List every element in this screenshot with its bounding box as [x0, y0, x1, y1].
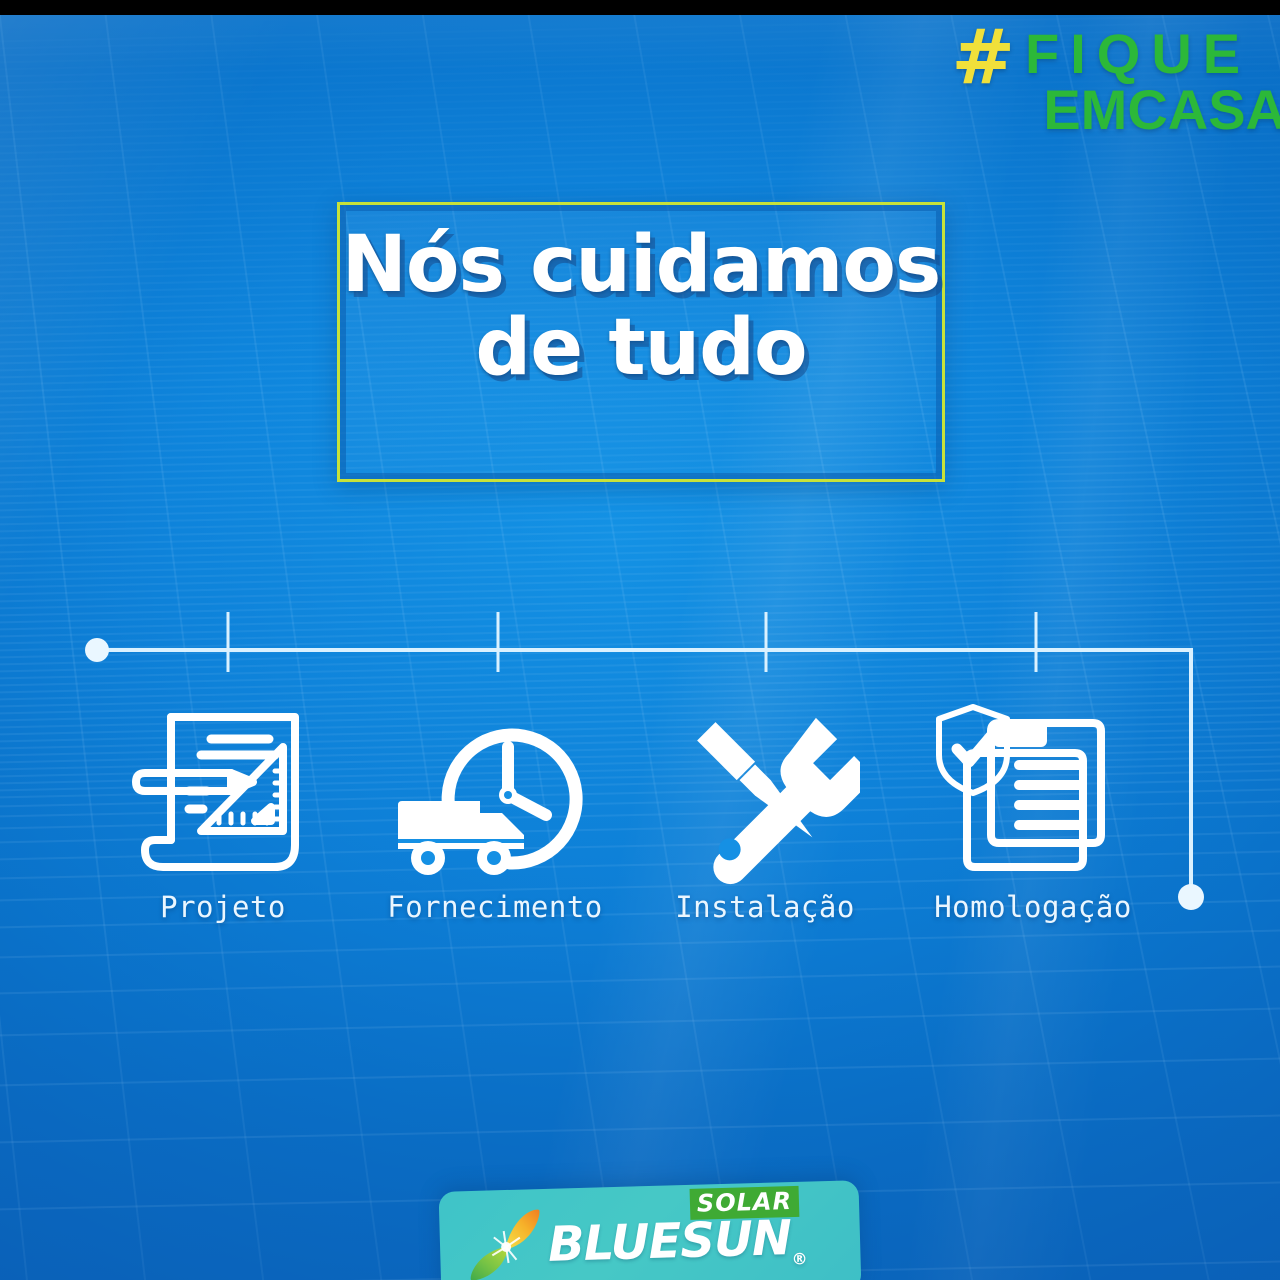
step-label-instalacao: Instalação: [640, 890, 890, 924]
hashtag-line1: FIQUE: [1025, 26, 1251, 82]
headline-line2: de tudo: [337, 307, 945, 390]
stay-home-hashtag: # FIQUE EMCASA: [951, 26, 1280, 138]
bluesun-leaf-sun-icon: [465, 1204, 545, 1280]
process-timeline: [0, 0, 1280, 1280]
letterbox-top-bar: [0, 0, 1280, 15]
headline-line1: Nós cuidamos: [342, 220, 941, 310]
wrench-screwdriver-icon: [640, 690, 890, 890]
delivery-truck-clock-icon: [370, 690, 620, 890]
timeline-start-dot: [85, 638, 109, 662]
blueprint-pencil-ruler-icon: [98, 690, 348, 890]
step-instalacao[interactable]: Instalação: [640, 690, 890, 924]
step-fornecimento[interactable]: Fornecimento: [370, 690, 620, 924]
promotional-graphic: # FIQUE EMCASA Nós cuidamos de tudo: [0, 0, 1280, 1280]
clipboard-shield-check-icon: [908, 690, 1158, 890]
step-projeto[interactable]: Projeto: [98, 690, 348, 924]
solar-badge: SOLAR: [690, 1186, 800, 1220]
page-title: Nós cuidamos de tudo: [337, 224, 945, 389]
bluesun-wordmark: SOLAR BLUESUN®: [547, 1206, 807, 1275]
registered-mark: ®: [791, 1249, 807, 1268]
step-label-homologacao: Homologação: [908, 890, 1158, 924]
step-label-projeto: Projeto: [98, 890, 348, 924]
bluesun-logo-card: SOLAR BLUESUN®: [439, 1180, 862, 1280]
hash-symbol-icon: #: [951, 26, 1015, 88]
brand-name-text: BLUESUN: [547, 1210, 792, 1273]
step-label-fornecimento: Fornecimento: [370, 890, 620, 924]
process-steps: Projeto: [0, 690, 1280, 950]
step-homologacao[interactable]: Homologação: [908, 690, 1158, 924]
timeline-ticks: [228, 612, 1036, 672]
brand-name: BLUESUN®: [547, 1214, 806, 1275]
